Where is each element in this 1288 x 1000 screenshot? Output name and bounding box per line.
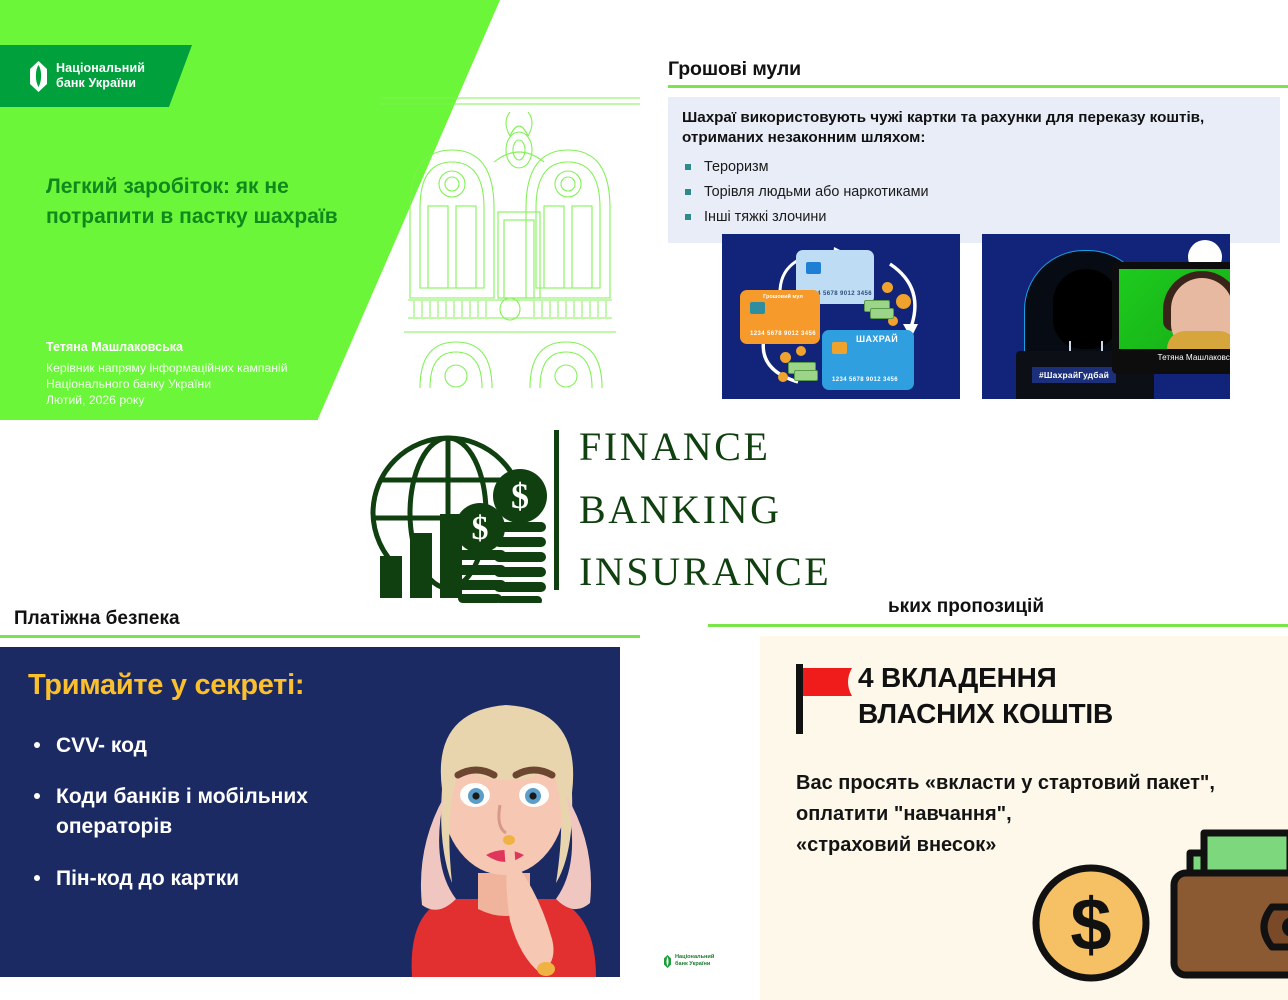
globe-coins-chart-icon: $ $: [358, 418, 548, 603]
mules-lead-text: Шахраї використовують чужі картки та рах…: [682, 108, 1266, 150]
logo-line-finance: FINANCE: [579, 416, 831, 479]
hashtag-badge: #ШахрайГудбай: [1032, 367, 1116, 383]
paysec-slide-title: Платіжна безпека: [0, 608, 640, 630]
mules-images-row: 1234 5678 9012 3456 1234 5678 9012 3456 …: [722, 234, 1230, 399]
invest-title-underline: [708, 624, 1288, 627]
nbu-logo-line1: Національний: [56, 61, 145, 76]
square-bullet-icon: [685, 189, 691, 195]
video-overlay-card: Національний банк України Тетяна Машлако…: [1112, 262, 1230, 374]
square-bullet-icon: [685, 164, 691, 170]
logo-line-insurance: INSURANCE: [579, 541, 831, 604]
wallet-with-cash-icon: [1160, 811, 1288, 986]
logo-line-banking: BANKING: [579, 479, 831, 542]
nbu-emblem-icon: [664, 955, 671, 968]
nbu-logo-line2: банк України: [56, 76, 145, 91]
author-role-line2: Національного банку України: [46, 376, 366, 392]
mules-title-underline: [668, 85, 1288, 88]
speaker-body: [1167, 331, 1230, 349]
video-frame: Національний банк України: [1119, 269, 1230, 349]
list-item: Коди банків і мобільних операторів: [34, 782, 394, 842]
hood-shadow: [1053, 269, 1119, 349]
dot-bullet-icon: [34, 875, 40, 881]
shushing-woman-illustration: [360, 677, 620, 977]
list-item: CVV- код: [34, 731, 394, 761]
cash-icon: [870, 308, 894, 319]
card-chip-icon: [750, 302, 765, 314]
footer-nbu-logo: Національний банк України: [664, 954, 714, 969]
title-slide: Національний банк України Легкий заробіт…: [0, 0, 640, 420]
footer-brand-line2: банк України: [675, 961, 714, 968]
list-item: Тероризм: [682, 155, 1266, 180]
card-chip-icon: [806, 262, 821, 274]
mules-bullet-list: Тероризм Торівля людьми або наркотиками …: [682, 155, 1266, 229]
card-chip-icon: [832, 342, 847, 354]
author-date: Лютий, 2026 року: [46, 392, 366, 408]
payment-security-slide: Платіжна безпека Тримайте у секреті: CVV…: [0, 608, 640, 1000]
footer-nbu-text: Національний банк України: [675, 954, 714, 969]
mules-bullet-2: Інші тяжкі злочини: [704, 209, 826, 225]
paysec-title-underline: [0, 635, 640, 638]
square-bullet-icon: [685, 214, 691, 220]
red-flag-icon: [796, 664, 854, 734]
title-slide-heading: Легкий заробіток: як не потрапити в паст…: [46, 172, 346, 233]
nbu-logo-text: Національний банк України: [56, 61, 145, 92]
invest-heading-line1: 4 ВКЛАДЕННЯ: [858, 660, 1113, 696]
mules-info-box: Шахраї використовують чужі картки та рах…: [668, 97, 1280, 243]
list-item: Пін-код до картки: [34, 864, 394, 894]
card-fraud-label: ШАХРАЙ: [856, 334, 898, 344]
invest-heading-line2: ВЛАСНИХ КОШТІВ: [858, 696, 1113, 732]
dot-bullet-icon: [34, 742, 40, 748]
logo-wordmark: FINANCE BANKING INSURANCE: [579, 416, 831, 604]
card-number: 1234 5678 9012 3456: [832, 377, 898, 383]
invest-slide-title: ьких пропозицій: [888, 596, 1044, 618]
nbu-building-illustration: [380, 88, 640, 388]
invest-infographic-card: 4 ВКЛАДЕННЯ ВЛАСНИХ КОШТІВ Вас просять «…: [760, 636, 1288, 1000]
mules-slide-title: Грошові мули: [660, 58, 1288, 81]
author-name: Тетяна Машлаковська: [46, 340, 366, 354]
finance-banking-insurance-logo: $ $ FINANCE BANKING INSURANCE: [358, 415, 868, 605]
invest-heading: 4 ВКЛАДЕННЯ ВЛАСНИХ КОШТІВ: [858, 660, 1113, 733]
dollar-coin-icon: $: [1032, 864, 1150, 982]
list-item: Інші тяжкі злочини: [682, 205, 1266, 230]
nbu-logo-bar: Національний банк України: [0, 45, 192, 107]
svg-text:$: $: [511, 476, 529, 516]
mules-bullet-0: Тероризм: [704, 159, 769, 175]
investment-red-flag-slide: ьких пропозицій 4 ВКЛАДЕННЯ ВЛАСНИХ КОШТ…: [700, 596, 1288, 1000]
title-slide-author: Тетяна Машлаковська Керівник напряму інф…: [46, 340, 366, 408]
list-item: Торівля людьми або наркотиками: [682, 180, 1266, 205]
video-speaker-caption: Тетяна Машлаковська: [1119, 353, 1230, 362]
cash-icon: [794, 370, 818, 381]
money-mule-diagram-image: 1234 5678 9012 3456 1234 5678 9012 3456 …: [722, 234, 960, 399]
invest-body-line1: Вас просять «вкласти у стартовий пакет",: [796, 768, 1286, 799]
coin-icon: [882, 282, 893, 293]
secret-items-list: CVV- код Коди банків і мобільних операто…: [34, 731, 394, 916]
coin-icon: [896, 294, 911, 309]
card-number: 1234 5678 9012 3456: [750, 331, 816, 337]
secret-item-2: Пін-код до картки: [56, 867, 239, 890]
nbu-emblem-icon: [30, 61, 47, 92]
dot-bullet-icon: [34, 793, 40, 799]
coin-icon: [796, 346, 806, 356]
keep-secret-heading: Тримайте у секреті:: [28, 669, 304, 702]
coin-icon: [778, 372, 788, 382]
slide-collage: Національний банк України Легкий заробіт…: [0, 0, 1288, 1000]
svg-text:$: $: [1070, 883, 1111, 966]
author-role-line1: Керівник напряму інформаційних кампаній: [46, 360, 366, 376]
card-mule-label: Грошовий мул: [762, 294, 804, 301]
keep-secret-infographic: Тримайте у секреті: CVV- код Коди банків…: [0, 647, 620, 977]
secret-item-0: CVV- код: [56, 734, 147, 757]
svg-text:$: $: [472, 510, 489, 547]
logo-divider: [554, 430, 559, 590]
hacker-video-image: #ШахрайГудбай Національний банк України …: [982, 234, 1230, 399]
secret-item-1: Коди банків і мобільних операторів: [56, 785, 308, 838]
mules-bullet-1: Торівля людьми або наркотиками: [704, 184, 929, 200]
money-mules-slide: Грошові мули Шахраї використовують чужі …: [660, 58, 1288, 398]
